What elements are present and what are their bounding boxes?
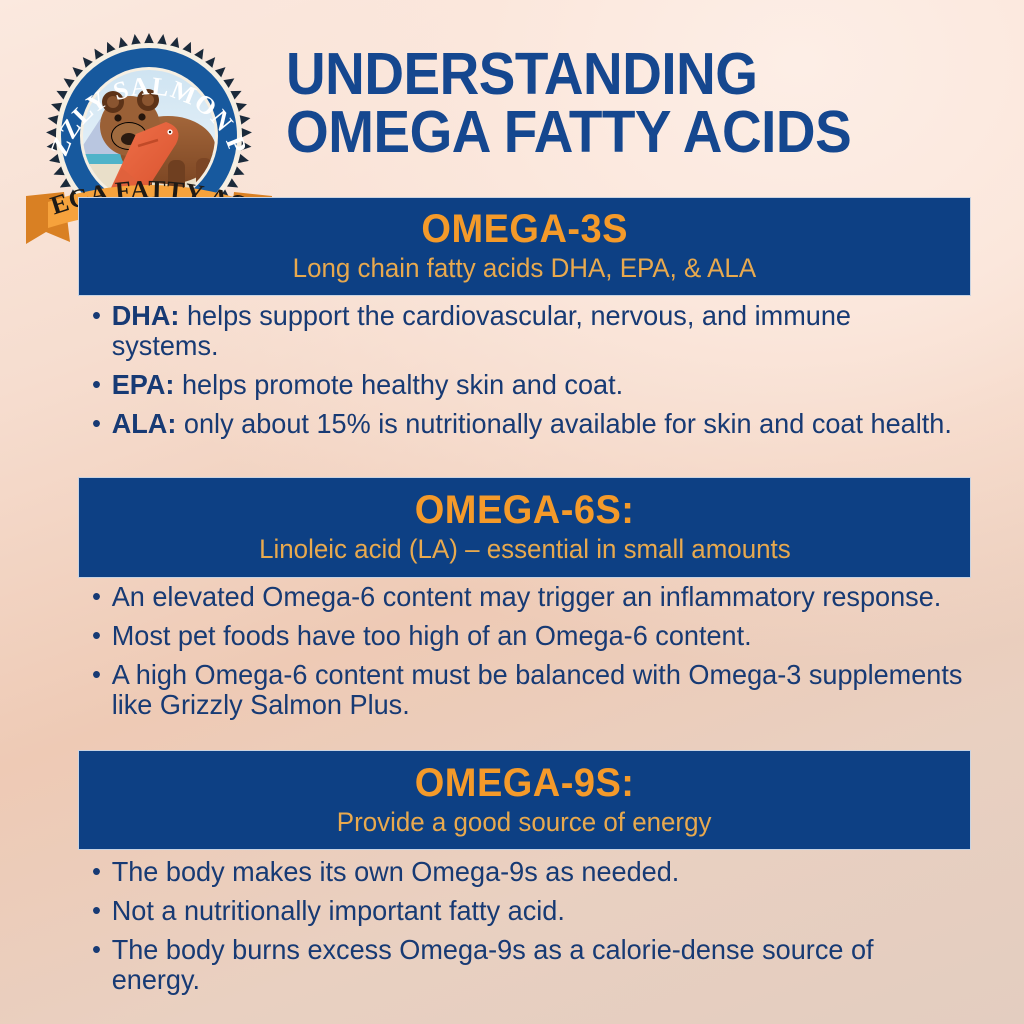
list-item-text: EPA: helps promote healthy skin and coat… xyxy=(112,370,964,400)
section-subheading-omega3: Long chain fatty acids DHA, EPA, & ALA xyxy=(293,254,756,283)
list-item-text: DHA: helps support the cardiovascular, n… xyxy=(112,301,964,361)
page-title: UNDERSTANDING OMEGA FATTY ACIDS xyxy=(286,46,986,162)
list-item-text: An elevated Omega-6 content may trigger … xyxy=(112,582,964,612)
list-item: • EPA: helps promote healthy skin and co… xyxy=(92,370,964,400)
section-heading-omega6: OMEGA-6S: xyxy=(415,490,635,530)
list-item-body: only about 15% is nutritionally availabl… xyxy=(176,408,951,439)
bullet-marker-icon: • xyxy=(92,896,112,926)
list-item-text: Most pet foods have too high of an Omega… xyxy=(112,621,964,651)
list-item-label: DHA: xyxy=(112,300,180,331)
list-item-text: The body makes its own Omega-9s as neede… xyxy=(112,857,964,887)
bullet-list-omega3: • DHA: helps support the cardiovascular,… xyxy=(92,301,977,448)
infographic-poster: GRIZZLY SALMON PLUS WILD-SOURCED OMEGA F… xyxy=(0,0,1024,1024)
bullet-marker-icon: • xyxy=(92,301,112,361)
section-heading-omega9: OMEGA-9S: xyxy=(415,763,635,803)
page-title-line-2: OMEGA FATTY ACIDS xyxy=(286,104,937,162)
section-header-omega6: OMEGA-6S: Linoleic acid (LA) – essential… xyxy=(78,477,971,578)
bullet-marker-icon: • xyxy=(92,582,112,612)
list-item: • A high Omega-6 content must be balance… xyxy=(92,660,964,720)
section-heading-omega3: OMEGA-3S xyxy=(421,209,627,249)
list-item-text: Not a nutritionally important fatty acid… xyxy=(112,896,964,926)
section-header-omega9: OMEGA-9S: Provide a good source of energ… xyxy=(78,750,971,850)
section-header-omega3: OMEGA-3S Long chain fatty acids DHA, EPA… xyxy=(78,197,971,296)
bullet-marker-icon: • xyxy=(92,409,112,439)
section-subheading-omega9: Provide a good source of energy xyxy=(337,808,712,837)
list-item-text: ALA: only about 15% is nutritionally ava… xyxy=(112,409,964,439)
list-item: • The body burns excess Omega-9s as a ca… xyxy=(92,935,964,995)
list-item-body: helps support the cardiovascular, nervou… xyxy=(112,300,851,361)
list-item: • DHA: helps support the cardiovascular,… xyxy=(92,301,964,361)
list-item-label: ALA: xyxy=(112,408,177,439)
bullet-marker-icon: • xyxy=(92,857,112,887)
list-item: • Not a nutritionally important fatty ac… xyxy=(92,896,964,926)
list-item: • ALA: only about 15% is nutritionally a… xyxy=(92,409,964,439)
list-item: • The body makes its own Omega-9s as nee… xyxy=(92,857,964,887)
list-item: • Most pet foods have too high of an Ome… xyxy=(92,621,964,651)
list-item: • An elevated Omega-6 content may trigge… xyxy=(92,582,964,612)
bullet-marker-icon: • xyxy=(92,621,112,651)
list-item-text: The body burns excess Omega-9s as a calo… xyxy=(112,935,964,995)
bullet-list-omega9: • The body makes its own Omega-9s as nee… xyxy=(92,857,977,1004)
bullet-marker-icon: • xyxy=(92,660,112,720)
section-subheading-omega6: Linoleic acid (LA) – essential in small … xyxy=(259,535,791,564)
list-item-body: helps promote healthy skin and coat. xyxy=(174,369,623,400)
bullet-marker-icon: • xyxy=(92,935,112,995)
bullet-marker-icon: • xyxy=(92,370,112,400)
list-item-label: EPA: xyxy=(112,369,175,400)
page-title-line-1: UNDERSTANDING xyxy=(286,46,937,104)
bullet-list-omega6: • An elevated Omega-6 content may trigge… xyxy=(92,582,977,729)
list-item-text: A high Omega-6 content must be balanced … xyxy=(112,660,964,720)
